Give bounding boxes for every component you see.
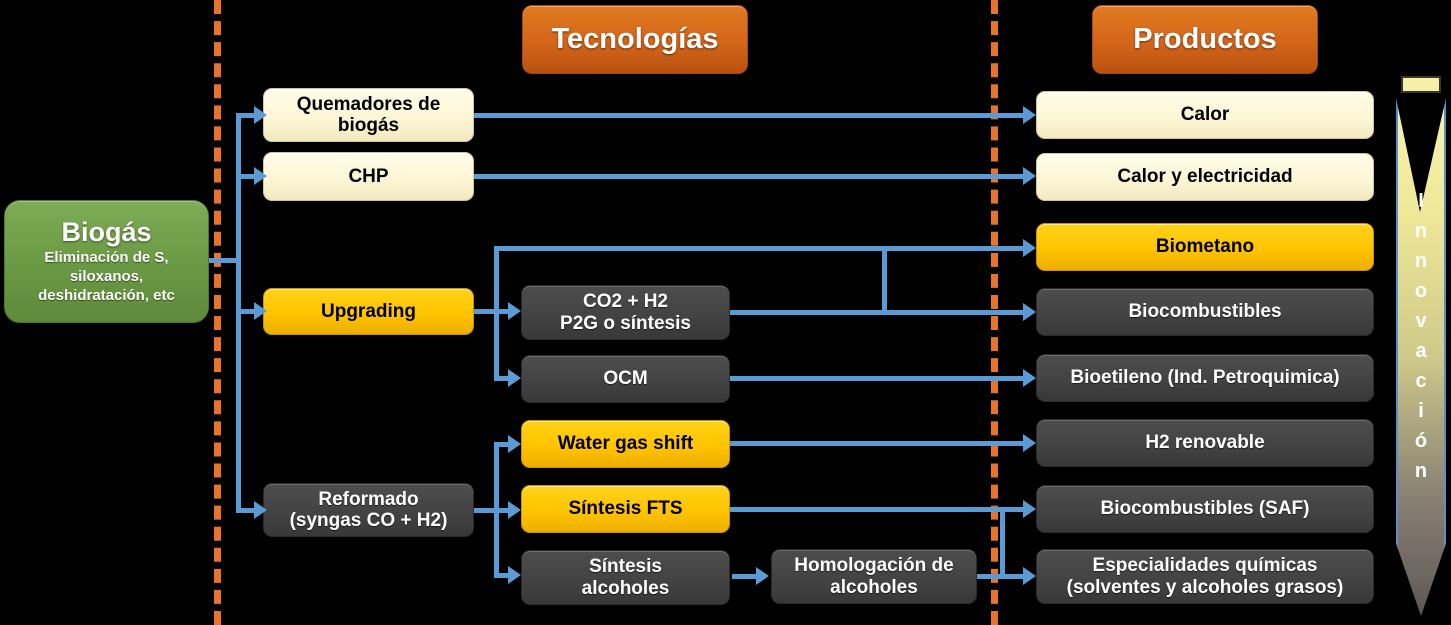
node-especialidades-line1: Especialidades químicas [1093,555,1318,576]
header-tecnologias: Tecnologías [522,5,748,74]
node-p2g-line1: CO2 + H2 [583,291,668,312]
node-chp-label: CHP [348,166,388,187]
node-h2-renovable[interactable]: H2 renovable [1036,419,1374,467]
innovation-letter-2: n [1396,246,1446,276]
node-upgrading[interactable]: Upgrading [263,288,474,335]
arrowhead-ocm [508,369,521,387]
connector-quemadores-to-calor [474,113,1031,118]
node-quemadores-line2: biogás [338,115,399,136]
arrowhead-especialidades [1023,567,1036,585]
node-calor-label: Calor [1181,104,1230,125]
innovation-letter-6: c [1396,366,1446,396]
node-biocombustibles-saf[interactable]: Biocombustibles (SAF) [1036,485,1374,533]
node-calor[interactable]: Calor [1036,91,1374,139]
node-biometano-label: Biometano [1156,236,1254,257]
connector-homologacion-riser [1000,507,1005,579]
innovation-letter-0: I [1396,186,1446,216]
innovation-arrow: I n n o v a c i ó n [1396,76,1446,616]
connector-p2g-to-biocombustibles [730,310,1031,315]
connector-ocm-to-bioetileno [730,376,1031,381]
node-ocm[interactable]: OCM [521,355,730,403]
node-homologacion-line1: Homologación de [794,555,953,576]
innovation-letter-3: o [1396,276,1446,306]
innovation-letter-8: ó [1396,426,1446,456]
header-productos: Productos [1092,5,1318,74]
node-water-gas-shift[interactable]: Water gas shift [521,420,730,468]
node-calor-y-electricidad[interactable]: Calor y electricidad [1036,153,1374,201]
node-p2g[interactable]: CO2 + H2 P2G o síntesis [521,285,730,340]
connector-upgrading-to-biometano [494,246,1031,251]
node-sintesis-alcoholes-line1: Síntesis [589,556,662,577]
node-biogas-sub1: Eliminación de S, [44,249,168,268]
node-chp[interactable]: CHP [263,152,474,201]
innovation-letter-1: n [1396,216,1446,246]
node-fts-label: Síntesis FTS [568,498,682,519]
node-bioetileno-label: Bioetileno (Ind. Petroquimica) [1070,367,1339,388]
node-quemadores-line1: Quemadores de [297,94,441,115]
header-productos-label: Productos [1133,23,1276,56]
arrowhead-homologacion [756,567,769,585]
connector-chp-to-calor-electricidad [474,174,1031,179]
connector-fts-to-saf [730,507,1031,512]
node-biocombustibles-saf-label: Biocombustibles (SAF) [1100,498,1309,519]
arrowhead-calor-electricidad [1023,167,1036,185]
node-sintesis-alcoholes[interactable]: Síntesis alcoholes [521,550,730,605]
arrowhead-upgrading [254,302,267,320]
node-biogas-sub2: siloxanos, [70,268,143,287]
node-homologacion-alcoholes[interactable]: Homologación de alcoholes [771,549,977,604]
innovation-letter-5: a [1396,336,1446,366]
node-especialidades-quimicas[interactable]: Especialidades químicas (solventes y alc… [1036,549,1374,604]
node-biogas-title: Biogás [61,217,151,247]
node-especialidades-line2: (solventes y alcoholes grasos) [1067,577,1344,598]
arrowhead-sintesis-alcoholes [508,566,521,584]
innovation-arrow-label: I n n o v a c i ó n [1396,186,1446,486]
node-bioetileno[interactable]: Bioetileno (Ind. Petroquimica) [1036,354,1374,402]
arrowhead-fts [508,501,521,519]
arrowhead-wgs [508,435,521,453]
node-biometano[interactable]: Biometano [1036,223,1374,271]
arrowhead-chp [254,167,267,185]
header-tecnologias-label: Tecnologías [551,23,718,56]
connector-wgs-to-h2 [730,441,1031,446]
node-sintesis-fts[interactable]: Síntesis FTS [521,485,730,533]
node-biogas[interactable]: Biogás Eliminación de S, siloxanos, desh… [4,200,209,323]
node-sintesis-alcoholes-line2: alcoholes [582,578,670,599]
node-biocombustibles[interactable]: Biocombustibles [1036,288,1374,336]
arrowhead-calor [1023,106,1036,124]
diagram-canvas: Tecnologías Productos Biogás Eliminación… [0,0,1451,625]
node-upgrading-label: Upgrading [321,301,416,322]
node-biogas-sub3: deshidratación, etc [38,287,175,306]
node-h2-renovable-label: H2 renovable [1145,432,1264,453]
connector-p2g-riser [882,246,887,314]
innovation-letter-7: i [1396,396,1446,426]
innovation-arrow-tab [1401,76,1441,93]
node-reformado-line1: Reformado [318,489,418,510]
node-ocm-label: OCM [603,368,647,389]
arrowhead-reformado [254,501,267,519]
node-p2g-line2: P2G o síntesis [560,313,691,334]
divider-dashed-left [214,0,221,625]
connector-homologacion-to-saf [1000,507,1031,512]
node-reformado-line2: (syngas CO + H2) [290,510,448,531]
node-reformado[interactable]: Reformado (syngas CO + H2) [263,483,474,537]
node-quemadores-de-biogas[interactable]: Quemadores de biogás [263,88,474,142]
innovation-letter-9: n [1396,456,1446,486]
arrowhead-biometano [1023,239,1036,257]
innovation-letter-4: v [1396,306,1446,336]
arrowhead-p2g [508,302,521,320]
arrowhead-biocombustibles [1023,303,1036,321]
node-homologacion-line2: alcoholes [830,577,918,598]
arrowhead-bioetileno [1023,369,1036,387]
node-biocombustibles-label: Biocombustibles [1128,301,1281,322]
arrowhead-quemadores [254,106,267,124]
arrowhead-h2-renovable [1023,434,1036,452]
node-calor-electricidad-label: Calor y electricidad [1117,166,1292,187]
node-wgs-label: Water gas shift [558,433,694,454]
